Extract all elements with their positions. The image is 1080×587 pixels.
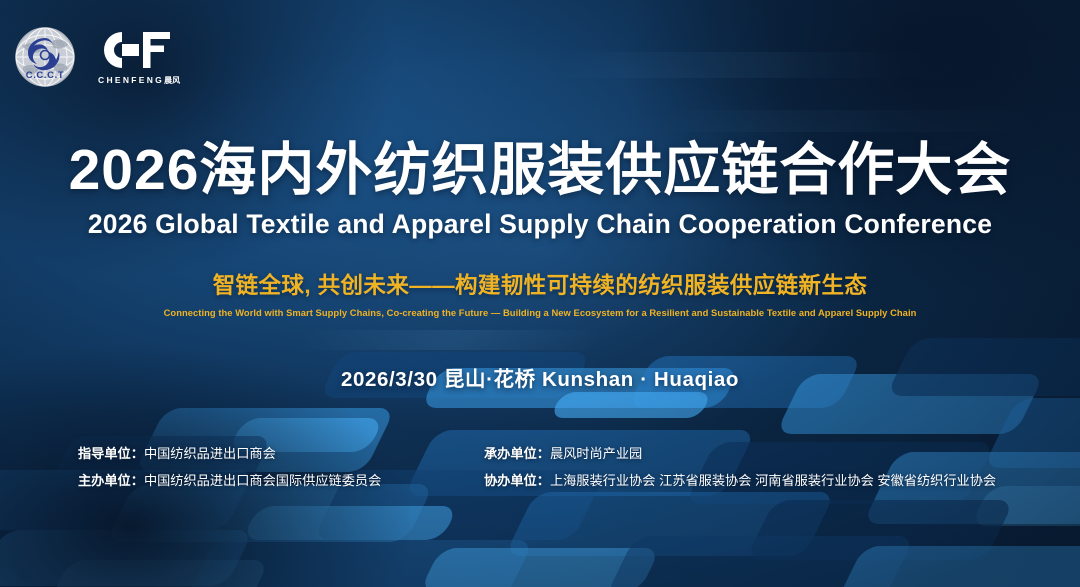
organizer-block: 指导单位：中国纺织品进出口商会 主办单位：中国纺织品进出口商会国际供应链委员会 … <box>0 440 1080 494</box>
conference-slogan-cn: 智链全球, 共创未来——构建韧性可持续的纺织服装供应链新生态 <box>0 268 1080 300</box>
organizer-row: 指导单位：中国纺织品进出口商会 <box>78 440 482 467</box>
organizer-value: 中国纺织品进出口商会 <box>144 446 276 461</box>
banner-content: 2026海内外纺织服装供应链合作大会 2026 Global Textile a… <box>0 0 1080 392</box>
organizer-value: 中国纺织品进出口商会国际供应链委员会 <box>144 473 381 488</box>
conference-date-location: 2026/3/30 昆山·花桥 Kunshan · Huaqiao <box>0 362 1080 392</box>
organizer-column-right: 承办单位：晨风时尚产业园 协办单位：上海服装行业协会 江苏省服装协会 河南省服装… <box>482 440 1080 494</box>
organizer-row: 承办单位：晨风时尚产业园 <box>484 440 1080 467</box>
organizer-label: 指导单位： <box>78 446 144 461</box>
conference-title-en: 2026 Global Textile and Apparel Supply C… <box>0 209 1080 240</box>
organizer-label: 协办单位： <box>484 473 550 488</box>
organizer-value: 上海服装行业协会 江苏省服装协会 河南省服装行业协会 安徽省纺织行业协会 <box>550 473 996 488</box>
organizer-label: 主办单位： <box>78 473 144 488</box>
organizer-label: 承办单位： <box>484 446 550 461</box>
conference-title-cn: 2026海内外纺织服装供应链合作大会 <box>0 140 1080 200</box>
organizer-row: 主办单位：中国纺织品进出口商会国际供应链委员会 <box>78 467 482 494</box>
organizer-value: 晨风时尚产业园 <box>550 446 642 461</box>
organizer-column-left: 指导单位：中国纺织品进出口商会 主办单位：中国纺织品进出口商会国际供应链委员会 <box>0 440 482 494</box>
organizer-row: 协办单位：上海服装行业协会 江苏省服装协会 河南省服装行业协会 安徽省纺织行业协… <box>484 467 1080 494</box>
conference-banner: C.C.C.T CHENFENG晨风 2026海内外纺织服装供应链合作大会 20… <box>0 0 1080 587</box>
conference-slogan-en: Connecting the World with Smart Supply C… <box>0 307 1080 318</box>
